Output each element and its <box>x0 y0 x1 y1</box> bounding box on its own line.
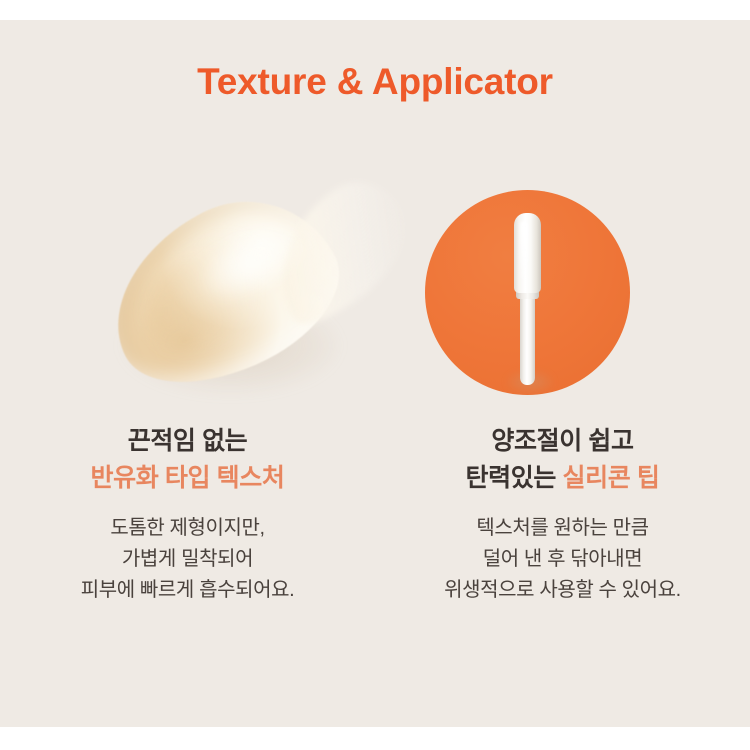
text-row: 끈적임 없는 반유화 타입 텍스처 도톰한 제형이지만, 가볍게 밀착되어 피부… <box>0 424 750 606</box>
body-line-2: 가볍게 밀착되어 <box>0 544 375 575</box>
applicator-head-highlight <box>520 221 528 281</box>
silicone-applicator-tip <box>415 175 650 420</box>
heading-line-1: 양조절이 쉽고 <box>375 424 750 460</box>
feature-column-texture: 끈적임 없는 반유화 타입 텍스처 도톰한 제형이지만, 가볍게 밀착되어 피부… <box>0 424 375 606</box>
feature-body-applicator: 텍스처를 원하는 만큼 덜어 낸 후 닦아내면 위생적으로 사용할 수 있어요. <box>375 513 750 606</box>
feature-column-applicator: 양조절이 쉽고 탄력있는 실리콘 팁 텍스처를 원하는 만큼 덜어 낸 후 닦아… <box>375 424 750 606</box>
body-line-1: 텍스처를 원하는 만큼 <box>375 513 750 544</box>
body-line-2: 덜어 낸 후 닦아내면 <box>375 544 750 575</box>
product-feature-panel: Texture & Applicator 끈적임 없는 반유화 타입 텍스처 <box>0 0 750 750</box>
cream-texture-swatch <box>95 190 375 410</box>
feature-body-texture: 도톰한 제형이지만, 가볍게 밀착되어 피부에 빠르게 흡수되어요. <box>0 513 375 606</box>
heading-line-2: 반유화 타입 텍스처 <box>0 461 375 497</box>
body-line-3: 위생적으로 사용할 수 있어요. <box>375 575 750 606</box>
body-line-1: 도톰한 제형이지만, <box>0 513 375 544</box>
heading-line-2-accent: 실리콘 팁 <box>563 464 660 492</box>
heading-line-1: 끈적임 없는 <box>0 424 375 460</box>
body-line-3: 피부에 빠르게 흡수되어요. <box>0 575 375 606</box>
page-title: Texture & Applicator <box>0 61 750 103</box>
heading-line-2-plain: 탄력있는 <box>466 464 563 492</box>
visual-row <box>0 170 750 420</box>
feature-heading-applicator: 양조절이 쉽고 탄력있는 실리콘 팁 <box>375 424 750 496</box>
applicator-shaft <box>520 295 535 385</box>
heading-line-2: 탄력있는 실리콘 팁 <box>375 461 750 497</box>
feature-heading-texture: 끈적임 없는 반유화 타입 텍스처 <box>0 424 375 496</box>
heading-line-2-accent: 반유화 타입 텍스처 <box>91 464 285 492</box>
